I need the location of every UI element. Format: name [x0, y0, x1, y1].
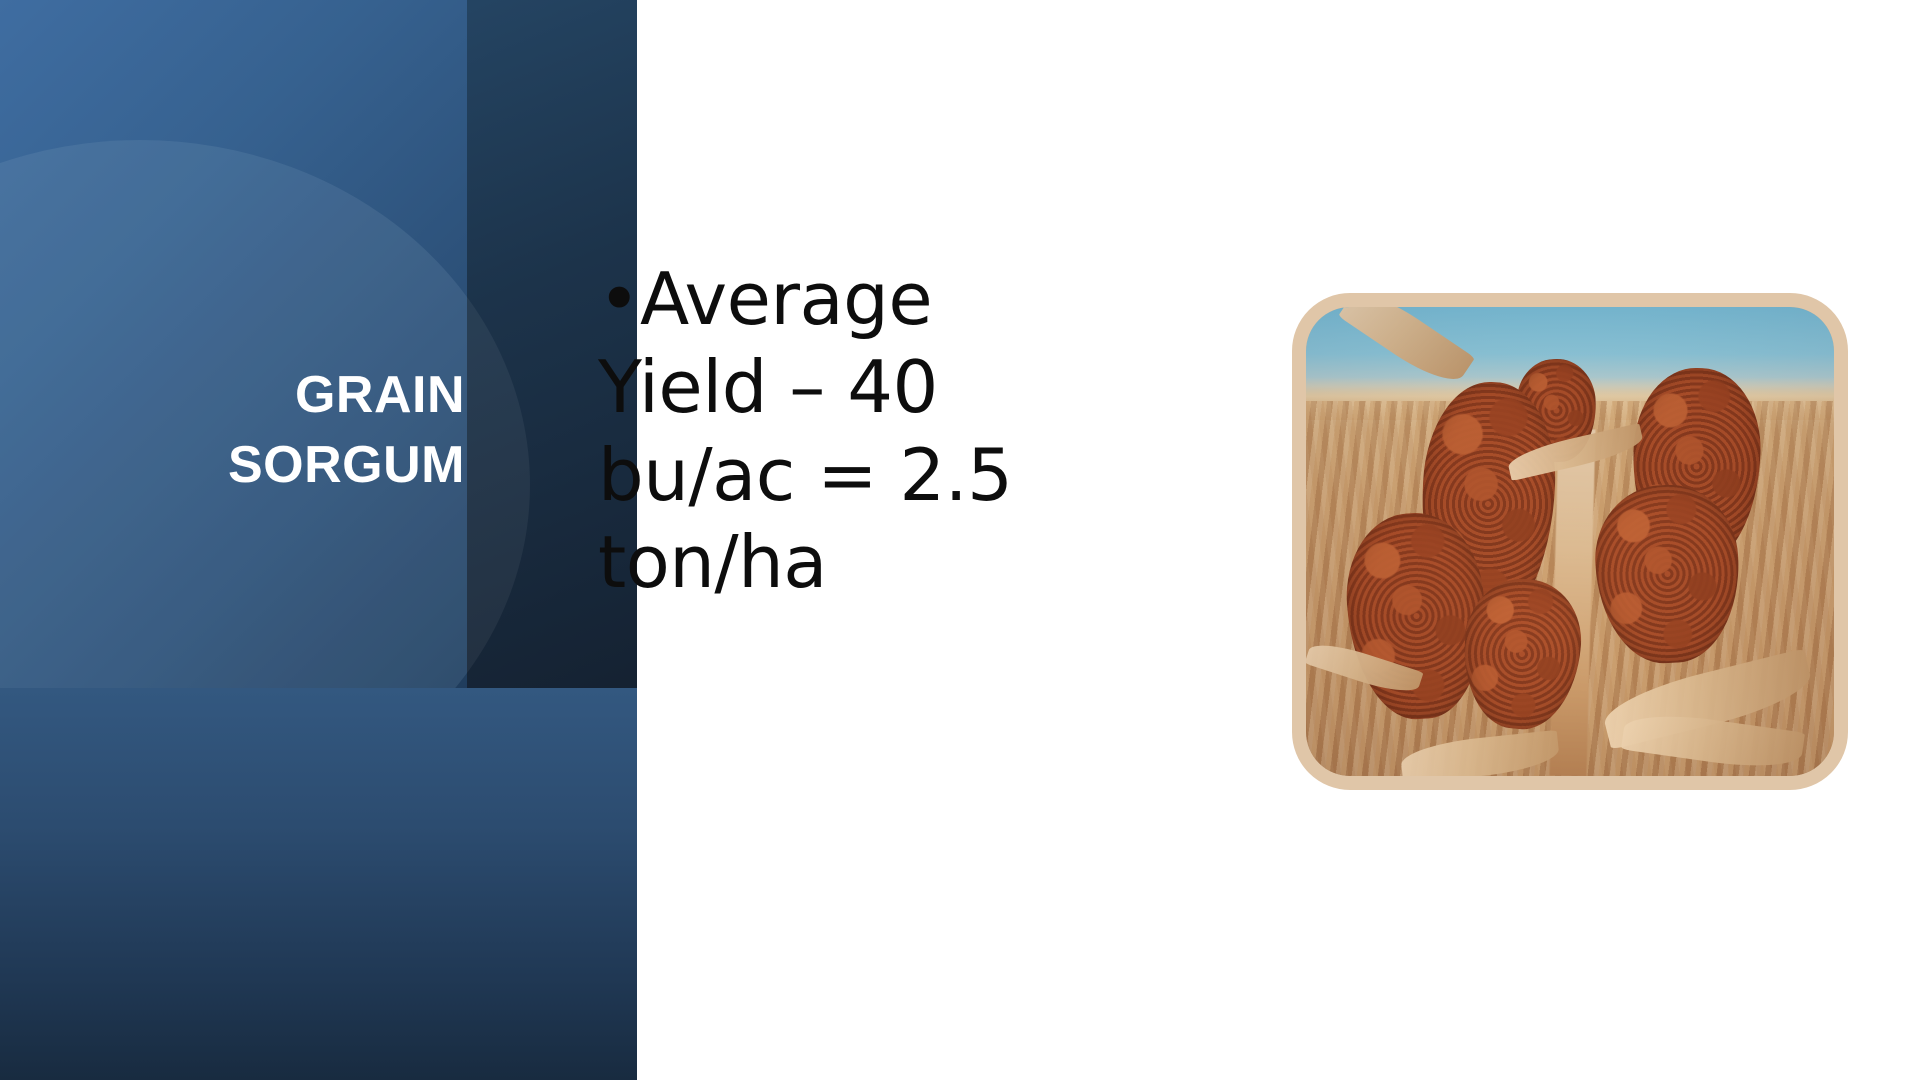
body-text-block: •Average Yield – 40 bu/ac = 2.5 ton/ha: [598, 256, 1018, 607]
slide-title: GRAIN SORGUM: [40, 360, 465, 500]
bullet-glyph: •: [598, 257, 640, 341]
photo-frame: [1292, 293, 1848, 790]
grain-sorghum-photo: [1306, 307, 1834, 776]
title-panel: GRAIN SORGUM: [0, 0, 637, 1080]
panel-lower-band-decoration: [0, 688, 637, 1080]
presentation-slide: GRAIN SORGUM •Average Yield – 40 bu/ac =…: [0, 0, 1920, 1080]
body-text: Average Yield – 40 bu/ac = 2.5 ton/ha: [598, 257, 1012, 604]
